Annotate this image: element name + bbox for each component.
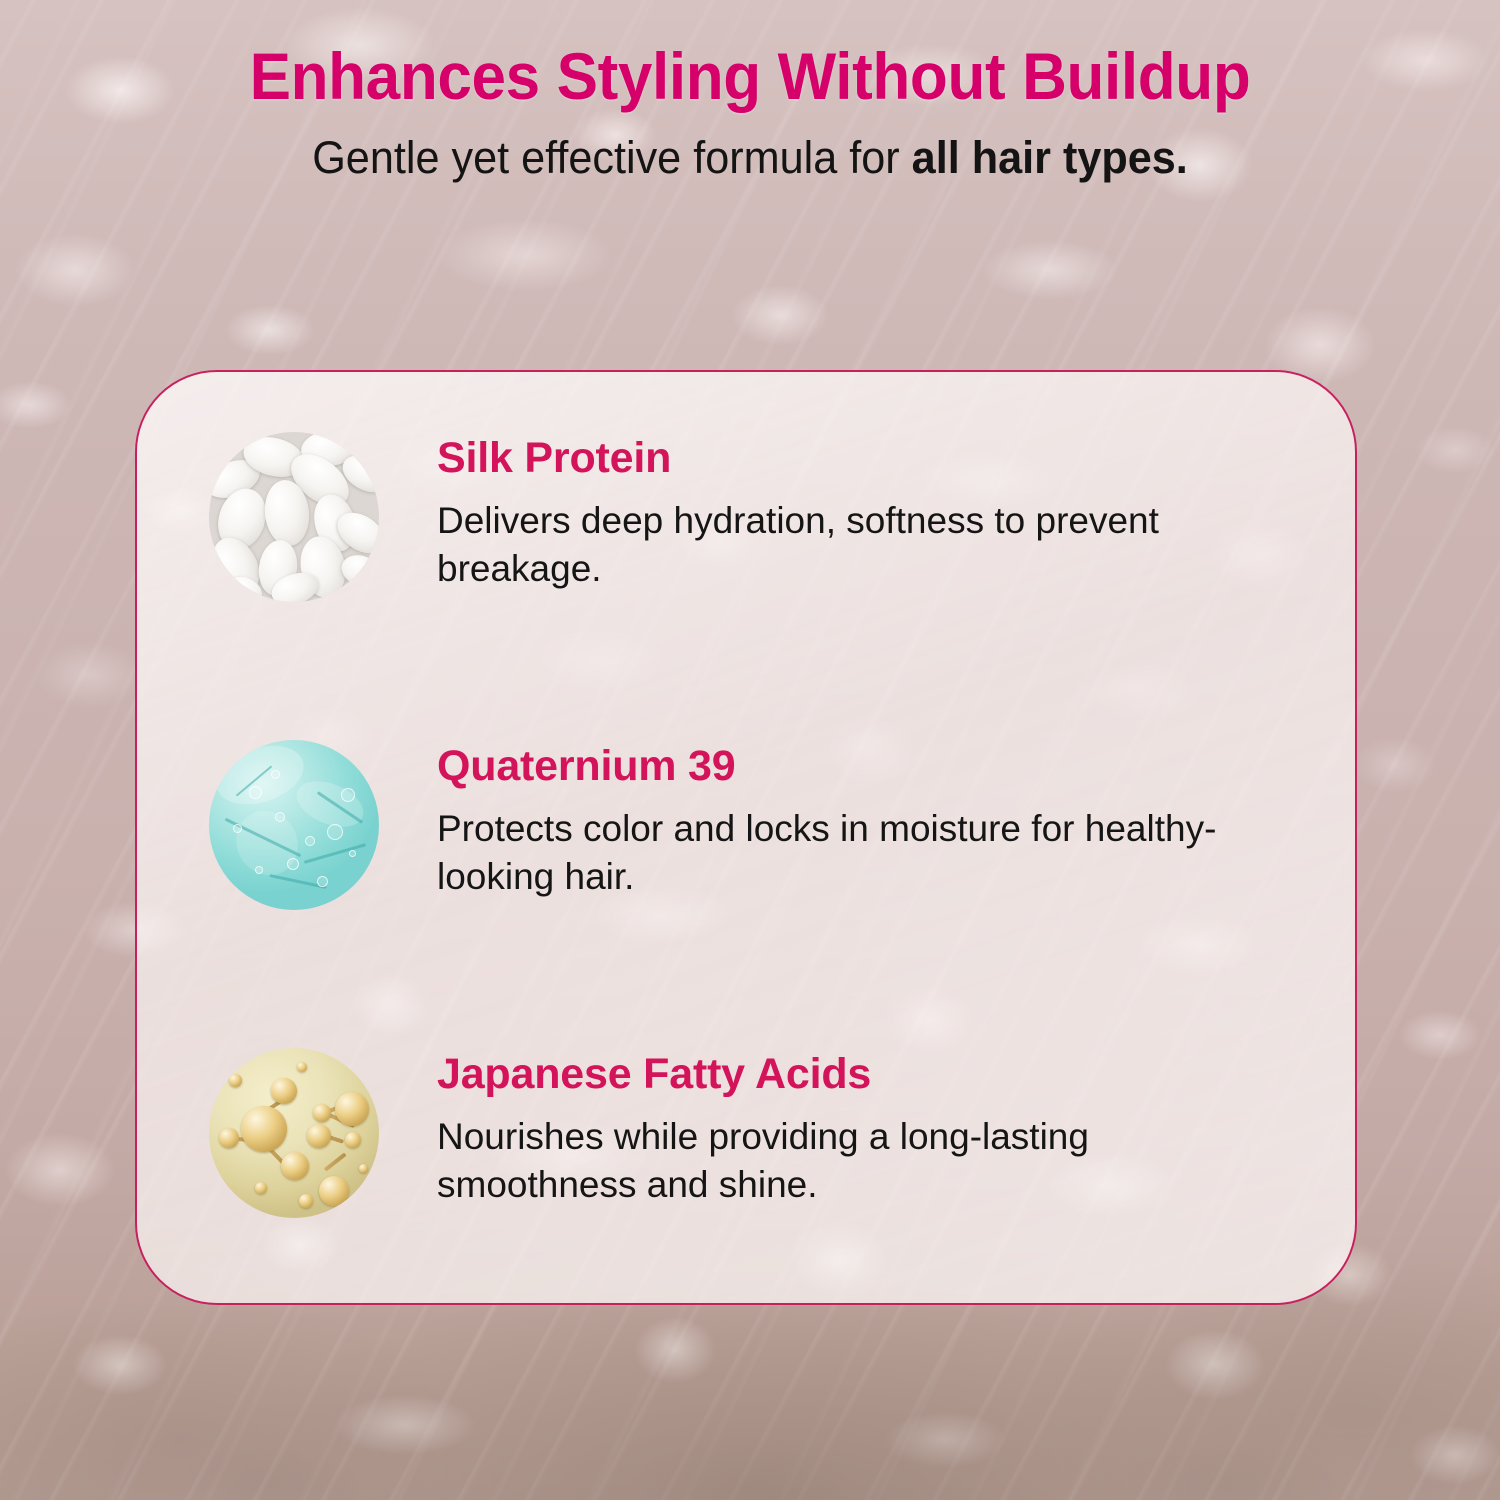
ingredient-list: Silk Protein Delivers deep hydration, so…	[137, 372, 1355, 1303]
ingredient-description: Delivers deep hydration, softness to pre…	[437, 497, 1267, 593]
ingredient-description: Protects color and locks in moisture for…	[437, 805, 1267, 901]
subtitle-prefix: Gentle yet effective formula for	[312, 132, 911, 183]
silk-cocoons-icon	[209, 432, 379, 602]
ingredient-name: Quaternium 39	[437, 744, 1267, 789]
ingredient-text: Quaternium 39 Protects color and locks i…	[437, 740, 1267, 901]
list-item: Silk Protein Delivers deep hydration, so…	[209, 432, 1267, 602]
ingredient-text: Japanese Fatty Acids Nourishes while pro…	[437, 1048, 1267, 1209]
product-feature-graphic: Enhances Styling Without Buildup Gentle …	[0, 0, 1500, 1500]
page-title: Enhances Styling Without Buildup	[45, 38, 1455, 114]
aqua-gel-icon	[209, 740, 379, 910]
subtitle-emphasis: all hair types.	[912, 132, 1188, 183]
page-subtitle: Gentle yet effective formula for all hai…	[30, 132, 1470, 184]
header: Enhances Styling Without Buildup Gentle …	[0, 0, 1500, 184]
ingredient-name: Japanese Fatty Acids	[437, 1052, 1267, 1097]
ingredients-card: Silk Protein Delivers deep hydration, so…	[135, 370, 1357, 1305]
list-item: Quaternium 39 Protects color and locks i…	[209, 740, 1267, 910]
ingredient-name: Silk Protein	[437, 436, 1267, 481]
list-item: Japanese Fatty Acids Nourishes while pro…	[209, 1048, 1267, 1218]
ingredient-text: Silk Protein Delivers deep hydration, so…	[437, 432, 1267, 593]
ingredient-description: Nourishes while providing a long-lasting…	[437, 1113, 1267, 1209]
gold-molecule-icon	[209, 1048, 379, 1218]
